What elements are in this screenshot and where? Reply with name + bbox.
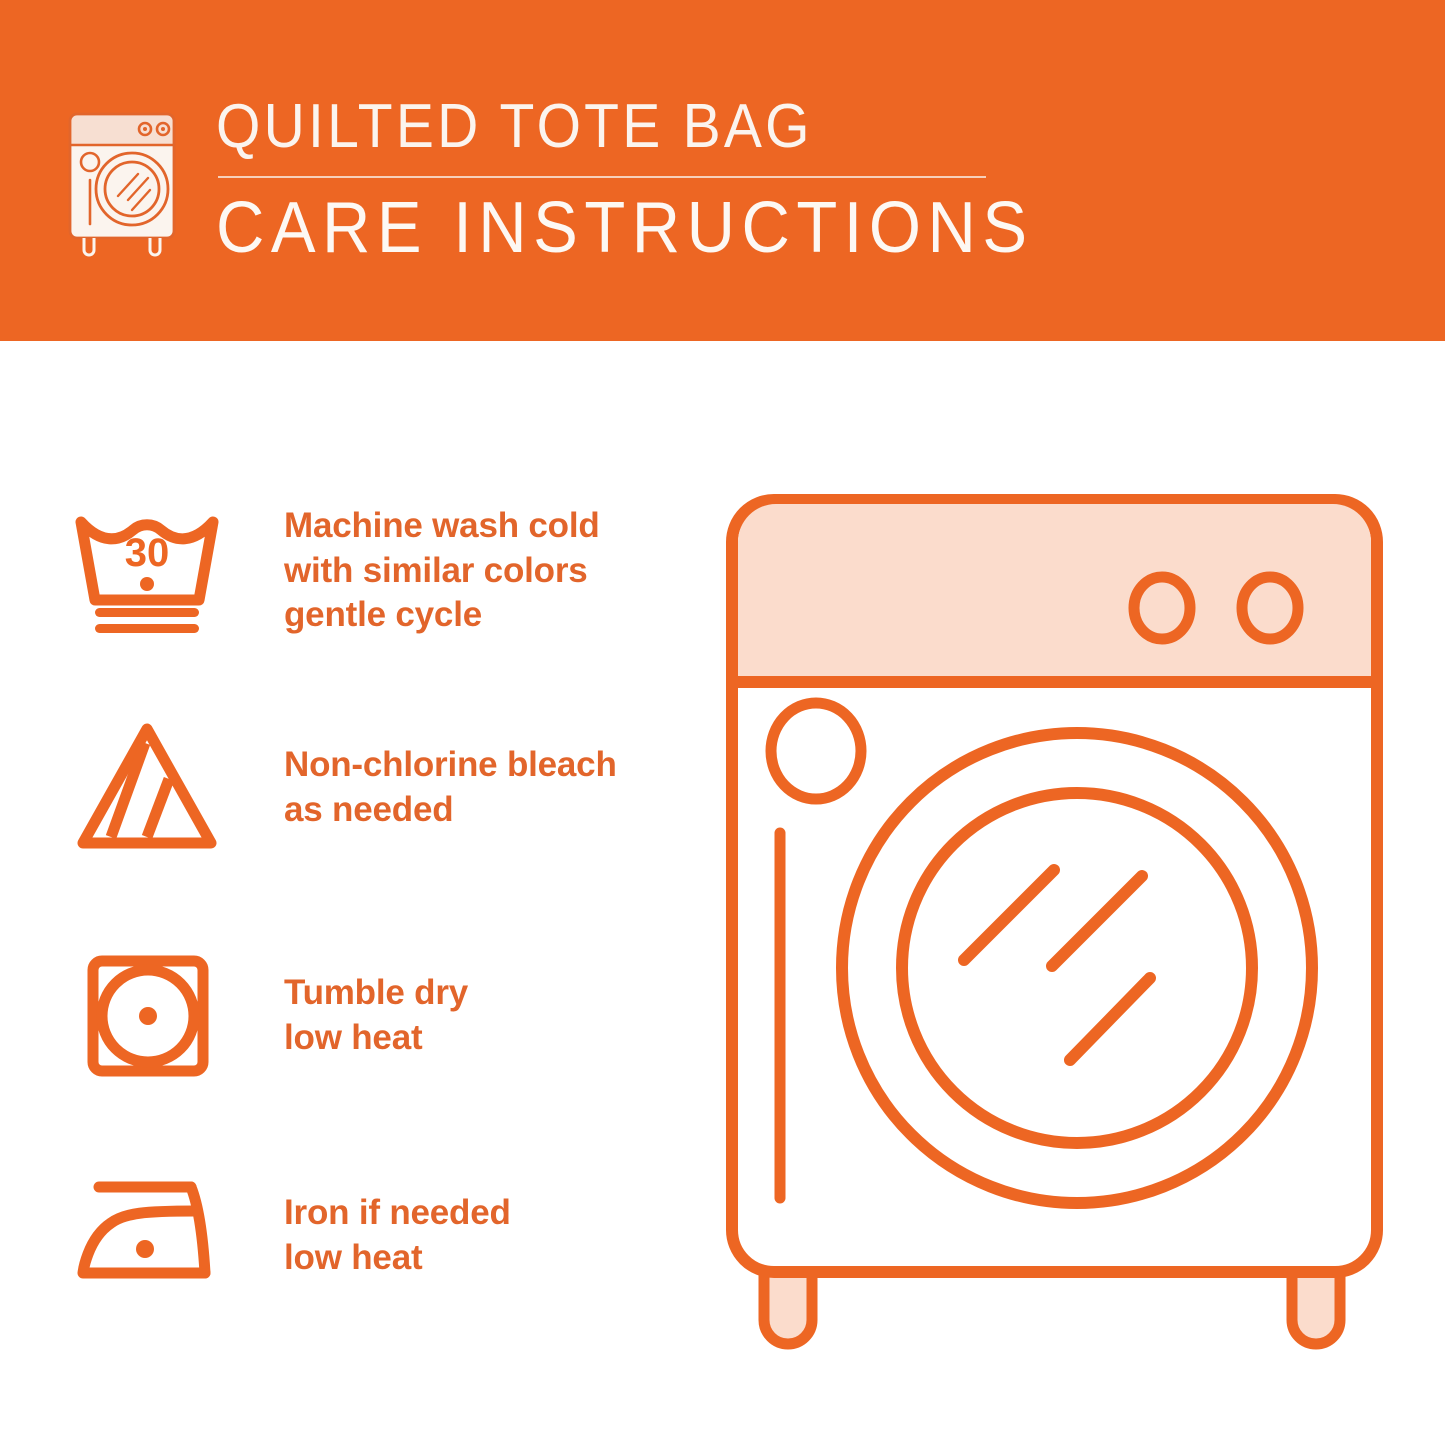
iron-low-heat-icon (62, 1161, 232, 1311)
care-text-line: Tumble dry (284, 971, 468, 1016)
care-text-tumble-dry: Tumble dry low heat (284, 971, 468, 1061)
care-text-line: low heat (284, 1016, 468, 1061)
page-title: QUILTED TOTE BAG (216, 96, 1025, 158)
page-subtitle: CARE INSTRUCTIONS (216, 192, 1034, 264)
care-text-line: low heat (284, 1236, 511, 1281)
care-text-iron: Iron if needed low heat (284, 1191, 511, 1281)
header-title-group: QUILTED TOTE BAG CARE INSTRUCTIONS (216, 92, 1095, 264)
care-row-bleach: Non-chlorine bleach as needed (62, 713, 617, 863)
care-row-tumble-dry: Tumble dry low heat (62, 941, 468, 1091)
header-content: QUILTED TOTE BAG CARE INSTRUCTIONS (62, 92, 1095, 264)
washing-machine-illustration (722, 488, 1387, 1368)
care-text-line: Iron if needed (284, 1191, 511, 1236)
care-text-machine-wash: Machine wash cold with similar colors ge… (284, 504, 600, 638)
care-text-line: with similar colors (284, 549, 600, 594)
washing-machine-icon (62, 100, 184, 258)
header-banner: QUILTED TOTE BAG CARE INSTRUCTIONS (0, 0, 1445, 341)
tumble-dry-low-icon (62, 941, 232, 1091)
machine-control-panel (738, 504, 1371, 682)
bleach-triangle-striped-icon (62, 713, 232, 863)
care-instructions-page: QUILTED TOTE BAG CARE INSTRUCTIONS 30 (0, 0, 1445, 1445)
care-text-bleach: Non-chlorine bleach as needed (284, 743, 617, 833)
care-text-line: as needed (284, 788, 617, 833)
care-row-iron: Iron if needed low heat (62, 1161, 511, 1311)
wash-temperature-label: 30 (125, 531, 170, 575)
care-text-line: Machine wash cold (284, 504, 600, 549)
care-text-line: gentle cycle (284, 593, 600, 638)
care-text-line: Non-chlorine bleach (284, 743, 617, 788)
title-divider (218, 176, 986, 178)
care-row-machine-wash: 30 Machine wash cold with similar colors… (62, 496, 600, 646)
wash-tub-30-gentle-icon: 30 (62, 496, 232, 646)
